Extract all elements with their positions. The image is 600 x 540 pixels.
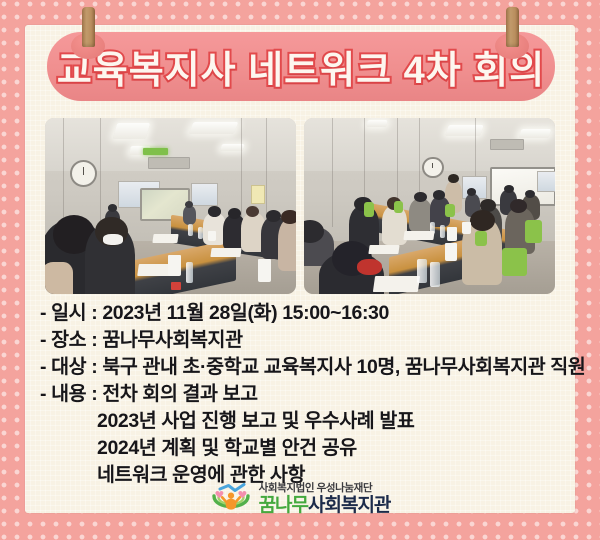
tissue-box — [447, 227, 457, 241]
presenter-head — [448, 174, 459, 183]
tissue-box — [168, 255, 181, 276]
info-line-place: - 장소 : 꿈나무사회복지관 — [40, 327, 560, 354]
person-head — [108, 204, 117, 211]
info-block: - 일시 : 2023년 11월 28일(화) 15:00~16:30 - 장소… — [40, 300, 560, 489]
person — [183, 206, 196, 225]
info-line-content: - 내용 : 전차 회의 결과 보고 — [40, 381, 560, 408]
chair — [364, 202, 374, 216]
red-item — [171, 282, 181, 291]
person-head — [433, 190, 445, 200]
face-mask — [103, 234, 123, 245]
wall-clock — [70, 160, 97, 187]
ceiling-vent — [490, 139, 525, 150]
person-head — [228, 208, 241, 219]
person-head — [470, 210, 495, 231]
person-head — [266, 210, 281, 222]
room-scene-left — [45, 118, 296, 294]
person-head — [467, 188, 476, 195]
room-scene-right — [304, 118, 555, 294]
water-bottle — [440, 225, 445, 237]
clothespin-right-peg — [506, 7, 519, 47]
window — [537, 171, 555, 192]
document — [373, 276, 420, 292]
info-line-date: - 일시 : 2023년 11월 28일(화) 15:00~16:30 — [40, 300, 560, 327]
water-bottle — [198, 227, 203, 239]
logo-center-name-green: 꿈나무 — [259, 495, 308, 516]
clothespin-left-icon — [71, 7, 105, 63]
paper-cup — [462, 222, 471, 234]
ceiling-light — [188, 122, 238, 134]
person-head — [208, 206, 221, 217]
person-head — [185, 201, 194, 208]
logo-text-group: 사회복지법인 우성나눔재단 꿈나무사회복지관 — [259, 483, 391, 515]
chair — [394, 201, 403, 213]
person-head — [281, 210, 296, 224]
window — [191, 183, 218, 206]
poster-root: 교육복지사 네트워크 4차 회의 — [0, 0, 600, 540]
chair — [475, 231, 488, 247]
wall-poster — [251, 185, 266, 205]
exit-sign — [143, 148, 168, 155]
meeting-photo-left — [45, 118, 296, 294]
tissue-box — [445, 243, 458, 261]
person — [278, 218, 296, 271]
water-bottle — [430, 262, 440, 287]
kkumnamu-welfare-center-logo-icon — [210, 482, 252, 516]
document — [152, 234, 178, 243]
water-bottle — [188, 224, 193, 236]
title-banner: 교육복지사 네트워크 4차 회의 — [47, 32, 555, 101]
logo-center-name-dark: 사회복지관 — [308, 495, 390, 516]
clothespin-left-peg — [82, 7, 95, 47]
logo-foundation-name: 사회복지법인 우성나눔재단 — [259, 483, 391, 494]
document — [404, 231, 435, 240]
logo-center-name: 꿈나무사회복지관 — [259, 496, 391, 515]
document — [210, 248, 241, 257]
chair — [502, 248, 527, 276]
red-item — [357, 259, 382, 275]
water-bottle — [186, 262, 194, 283]
document — [369, 245, 400, 254]
photo-gallery — [45, 118, 555, 294]
page-title: 교육복지사 네트워크 4차 회의 — [57, 39, 545, 94]
tissue-box — [258, 259, 271, 282]
chair — [445, 204, 455, 216]
meeting-photo-right — [304, 118, 555, 294]
ceiling-light — [445, 125, 484, 136]
ceiling-vent — [148, 157, 190, 170]
paper-cup — [208, 231, 216, 242]
person — [409, 199, 432, 232]
ceiling-light — [113, 123, 150, 139]
info-line-content-item-1: 2023년 사업 진행 보고 및 우수사례 발표 — [40, 408, 560, 435]
ceiling-light — [366, 120, 388, 127]
chair — [525, 220, 543, 243]
person-head — [504, 185, 514, 193]
info-line-content-item-2: 2024년 계획 및 학교별 안건 공유 — [40, 435, 560, 462]
wall-clock — [422, 157, 444, 179]
person-coat — [45, 262, 73, 294]
water-bottle — [417, 259, 427, 284]
info-line-audience: - 대상 : 북구 관내 초·중학교 교육복지사 10명, 꿈나무사회복지관 직… — [40, 354, 560, 381]
ceiling-light — [518, 129, 551, 138]
clothespin-right-icon — [495, 7, 529, 63]
organization-logo: 사회복지법인 우성나눔재단 꿈나무사회복지관 — [0, 479, 600, 519]
